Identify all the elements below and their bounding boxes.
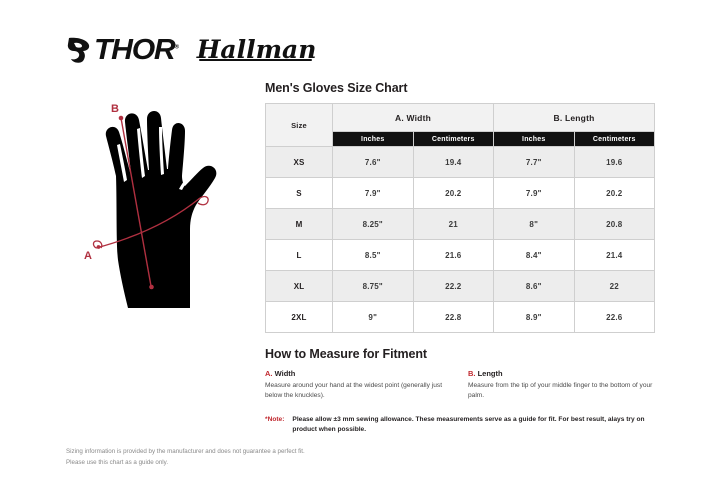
width-marker-label: A — [84, 250, 92, 262]
table-row: 2XL 9" 22.8 8.9" 22.6 — [266, 302, 655, 333]
size-chart-table: Size A. Width B. Length Inches Centimete… — [265, 103, 655, 333]
hallman-underline-flourish — [199, 59, 313, 61]
table-row: L 8.5" 21.6 8.4" 21.4 — [266, 240, 655, 271]
column-header-length-group: B. Length — [494, 104, 655, 132]
measure-item-width-description: Measure around your hand at the widest p… — [265, 381, 460, 401]
thor-registered-mark: ® — [174, 44, 179, 50]
cell-width-inches: 8.75" — [333, 271, 414, 302]
cell-width-centimeters: 22.2 — [413, 271, 494, 302]
footer-disclaimer-line-1: Sizing information is provided by the ma… — [66, 447, 396, 458]
glove-measurement-diagram: B A — [72, 96, 252, 312]
brand-logo-bar: THOR® Hallman — [66, 33, 316, 67]
cell-length-inches: 8.9" — [494, 302, 575, 333]
footer-disclaimer: Sizing information is provided by the ma… — [66, 447, 396, 469]
cell-width-inches: 9" — [333, 302, 414, 333]
footer-disclaimer-line-2: Please use this chart as a guide only. — [66, 458, 396, 469]
cell-length-inches: 7.9" — [494, 178, 575, 209]
table-row: S 7.9" 20.2 7.9" 20.2 — [266, 178, 655, 209]
size-chart-body: XS 7.6" 19.4 7.7" 19.6 S 7.9" 20.2 7.9" … — [266, 147, 655, 333]
column-header-width-inches: Inches — [333, 132, 414, 147]
cell-length-centimeters: 20.2 — [574, 178, 655, 209]
table-row: M 8.25" 21 8" 20.8 — [266, 209, 655, 240]
size-chart-head: Size A. Width B. Length Inches Centimete… — [266, 104, 655, 147]
cell-length-inches: 8" — [494, 209, 575, 240]
length-measure-end-dot — [149, 285, 154, 290]
column-header-width-centimeters: Centimeters — [413, 132, 494, 147]
cell-length-inches: 7.7" — [494, 147, 575, 178]
cell-length-inches: 8.6" — [494, 271, 575, 302]
cell-size: 2XL — [266, 302, 333, 333]
width-measure-start-dot — [97, 245, 101, 249]
table-row: XL 8.75" 22.2 8.6" 22 — [266, 271, 655, 302]
measure-item-width-heading: A. Width — [265, 369, 460, 378]
how-to-measure-columns: A. Width Measure around your hand at the… — [265, 369, 657, 401]
size-chart-panel: Men's Gloves Size Chart Size A. Width B.… — [265, 81, 657, 435]
cell-width-inches: 7.9" — [333, 178, 414, 209]
cell-size: L — [266, 240, 333, 271]
length-measure-start-dot — [119, 116, 124, 121]
cell-size: M — [266, 209, 333, 240]
cell-width-centimeters: 21 — [413, 209, 494, 240]
cell-length-centimeters: 22 — [574, 271, 655, 302]
measure-item-length-name: Length — [478, 369, 503, 378]
thor-helmet-icon — [66, 36, 92, 64]
cell-width-inches: 7.6" — [333, 147, 414, 178]
cell-width-centimeters: 20.2 — [413, 178, 494, 209]
measure-item-width-name: Width — [275, 369, 296, 378]
length-marker-label: B — [111, 103, 119, 115]
table-row: XS 7.6" 19.4 7.7" 19.6 — [266, 147, 655, 178]
measure-item-width: A. Width Measure around your hand at the… — [265, 369, 468, 401]
cell-length-centimeters: 20.8 — [574, 209, 655, 240]
cell-length-inches: 8.4" — [494, 240, 575, 271]
cell-size: XL — [266, 271, 333, 302]
measure-item-length-heading: B. Length — [468, 369, 655, 378]
cell-width-centimeters: 22.8 — [413, 302, 494, 333]
chart-title: Men's Gloves Size Chart — [265, 81, 657, 95]
measure-item-width-letter: A. — [265, 369, 273, 378]
glove-silhouette — [106, 111, 217, 308]
hallman-wordmark: Hallman — [197, 37, 317, 62]
measure-item-length: B. Length Measure from the tip of your m… — [468, 369, 655, 401]
column-header-size: Size — [266, 104, 333, 147]
thor-wordmark: THOR® — [94, 36, 179, 65]
how-to-measure-section: How to Measure for Fitment A. Width Meas… — [265, 347, 657, 435]
sizing-note-text: Please allow ±3 mm sewing allowance. The… — [292, 415, 648, 435]
thor-wordmark-text: THOR — [94, 34, 174, 66]
cell-width-centimeters: 21.6 — [413, 240, 494, 271]
cell-size: XS — [266, 147, 333, 178]
column-header-length-centimeters: Centimeters — [574, 132, 655, 147]
measure-item-length-letter: B. — [468, 369, 476, 378]
cell-length-centimeters: 19.6 — [574, 147, 655, 178]
cell-size: S — [266, 178, 333, 209]
sizing-note-label: *Note: — [265, 415, 284, 435]
how-to-measure-title: How to Measure for Fitment — [265, 347, 657, 361]
cell-length-centimeters: 21.4 — [574, 240, 655, 271]
column-header-length-inches: Inches — [494, 132, 575, 147]
cell-length-centimeters: 22.6 — [574, 302, 655, 333]
cell-width-inches: 8.5" — [333, 240, 414, 271]
cell-width-inches: 8.25" — [333, 209, 414, 240]
cell-width-centimeters: 19.4 — [413, 147, 494, 178]
measure-item-length-description: Measure from the tip of your middle fing… — [468, 381, 655, 401]
sizing-note: *Note: Please allow ±3 mm sewing allowan… — [265, 415, 657, 435]
thor-logo: THOR® — [66, 36, 176, 65]
table-header-row-groups: Size A. Width B. Length — [266, 104, 655, 132]
column-header-width-group: A. Width — [333, 104, 494, 132]
